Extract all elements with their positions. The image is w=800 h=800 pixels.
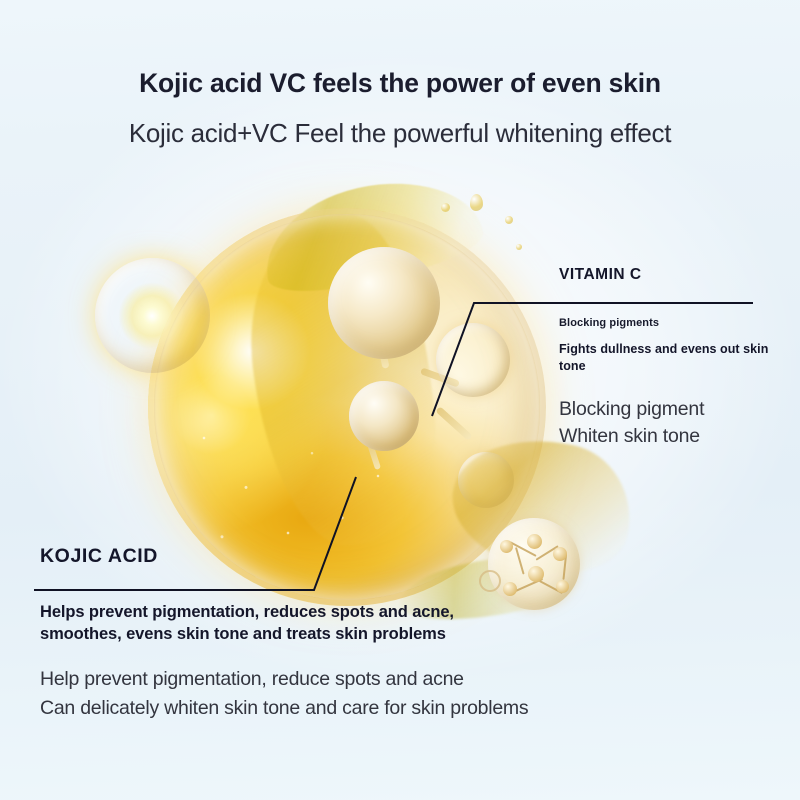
vitamin-c-benefit-line-1: Blocking pigment xyxy=(559,396,794,423)
droplet-small-1 xyxy=(470,194,483,211)
kojic-acid-bold-line-2: smoothes, evens skin tone and treats ski… xyxy=(40,623,620,645)
droplet-small-2 xyxy=(505,216,513,224)
skincare-ad-banner: Kojic acid VC feels the power of even sk… xyxy=(0,0,800,800)
kojic-acid-thin-line-2: Can delicately whiten skin tone and care… xyxy=(40,694,620,723)
vitamin-c-note: Blocking pigments xyxy=(559,317,794,329)
molecule-bubble-lower xyxy=(458,452,514,508)
callout-vitamin-c: VITAMIN C Blocking pigments Fights dulln… xyxy=(559,266,794,450)
vitamin-c-benefit-lines: Blocking pigment Whiten skin tone xyxy=(559,396,794,450)
molecule-bubble-right xyxy=(436,323,510,397)
kojic-acid-benefit-bold: Helps prevent pigmentation, reduces spot… xyxy=(40,601,620,645)
vitamin-c-title: VITAMIN C xyxy=(559,266,794,284)
kojic-acid-title: KOJIC ACID xyxy=(40,545,620,568)
molecule-bond-4 xyxy=(365,436,381,470)
molecule-bubble-mid xyxy=(349,381,419,451)
molecule-bond-1 xyxy=(420,367,460,387)
page-subtitle: Kojic acid+VC Feel the powerful whitenin… xyxy=(0,118,800,149)
page-title: Kojic acid VC feels the power of even sk… xyxy=(0,68,800,99)
callout-kojic-acid: KOJIC ACID Helps prevent pigmentation, r… xyxy=(40,545,620,723)
glowing-gold-bubble xyxy=(95,258,210,373)
molecule-bond-2 xyxy=(376,338,389,369)
droplet-small-4 xyxy=(441,203,450,212)
molecule-bond-3 xyxy=(435,406,472,441)
serum-swirl xyxy=(236,206,450,555)
kojic-acid-benefit-thin: Help prevent pigmentation, reduce spots … xyxy=(40,665,620,723)
kojic-acid-bold-line-1: Helps prevent pigmentation, reduces spot… xyxy=(40,601,620,623)
vitamin-c-benefit-bold: Fights dullness and evens out skin tone xyxy=(559,341,794,374)
vitamin-c-benefit-line-2: Whiten skin tone xyxy=(559,423,794,450)
oil-splash xyxy=(256,169,488,298)
kojic-acid-thin-line-1: Help prevent pigmentation, reduce spots … xyxy=(40,665,620,694)
droplet-small-3 xyxy=(516,244,522,250)
bubble-light-flare xyxy=(118,282,186,350)
molecule-bubble-large xyxy=(328,247,440,359)
